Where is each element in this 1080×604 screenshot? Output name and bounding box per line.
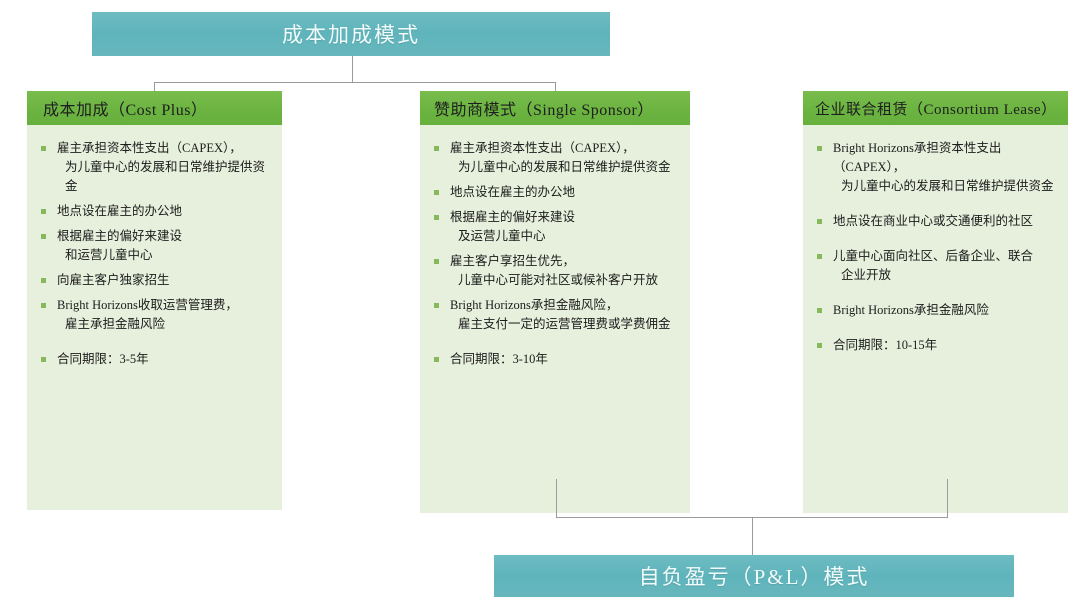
bullet-list: 雇主承担资本性支出（CAPEX）， 为儿童中心的发展和日常维护提供资金 地点设在… — [37, 139, 272, 369]
bullet-line-1: Bright Horizons承担金融风险 — [833, 303, 989, 317]
connector-top-stem — [352, 56, 353, 82]
bullet-line-2: 为儿童中心的发展和日常维护提供资金 — [57, 158, 272, 196]
bullet-line-1: 向雇主客户独家招生 — [57, 273, 170, 287]
bullet-line-2: 雇主承担金融风险 — [57, 315, 272, 334]
bullet-square-icon — [434, 303, 439, 308]
bullet-square-icon — [434, 146, 439, 151]
list-item-contract-term: 合同期限：3-5年 — [37, 350, 272, 369]
bullet-line-1: 根据雇主的偏好来建设 — [57, 229, 182, 243]
list-item: 雇主客户享招生优先， 儿童中心可能对社区或候补客户开放 — [430, 252, 680, 290]
diagram-canvas: 成本加成模式 成本加成（Cost Plus） 雇主承担资本性支出（CAPEX），… — [0, 0, 1080, 604]
bullet-square-icon — [817, 146, 822, 151]
bullet-line-2: 为儿童中心的发展和日常维护提供资金 — [833, 177, 1058, 196]
bullet-square-icon — [41, 303, 46, 308]
bullet-line-2: 儿童中心可能对社区或候补客户开放 — [450, 271, 680, 290]
bullet-square-icon — [41, 357, 46, 362]
bullet-square-icon — [817, 254, 822, 259]
bullet-line-1: Bright Horizons承担金融风险， — [450, 298, 618, 312]
bullet-line-1: 儿童中心面向社区、后备企业、联合 — [833, 249, 1033, 263]
top-banner-label: 成本加成模式 — [282, 19, 420, 49]
card-cost-plus: 成本加成（Cost Plus） 雇主承担资本性支出（CAPEX）， 为儿童中心的… — [27, 91, 282, 510]
card-title: 赞助商模式（Single Sponsor） — [434, 96, 654, 120]
card-header-cost-plus: 成本加成（Cost Plus） — [27, 91, 282, 125]
bullet-line-1: Bright Horizons收取运营管理费， — [57, 298, 238, 312]
list-item: 儿童中心面向社区、后备企业、联合 企业开放 — [813, 247, 1058, 285]
card-body-single-sponsor: 雇主承担资本性支出（CAPEX）， 为儿童中心的发展和日常维护提供资金 地点设在… — [420, 125, 690, 513]
list-item: 地点设在雇主的办公地 — [37, 202, 272, 221]
bullet-line-1: Bright Horizons承担资本性支出（CAPEX）， — [833, 141, 1001, 174]
bullet-line-1: 根据雇主的偏好来建设 — [450, 210, 575, 224]
bullet-list: Bright Horizons承担资本性支出（CAPEX）， 为儿童中心的发展和… — [813, 139, 1058, 355]
connector-top-bar — [154, 82, 556, 83]
bullet-square-icon — [434, 259, 439, 264]
bullet-line-1: 合同期限：3-5年 — [57, 352, 149, 366]
connector-bottom-drop-left — [556, 479, 557, 517]
bullet-square-icon — [817, 343, 822, 348]
bullet-line-2: 企业开放 — [833, 266, 1058, 285]
list-item: 地点设在商业中心或交通便利的社区 — [813, 212, 1058, 231]
bullet-square-icon — [41, 209, 46, 214]
bullet-list: 雇主承担资本性支出（CAPEX）， 为儿童中心的发展和日常维护提供资金 地点设在… — [430, 139, 680, 369]
bullet-line-2: 和运营儿童中心 — [57, 246, 272, 265]
list-item: Bright Horizons承担资本性支出（CAPEX）， 为儿童中心的发展和… — [813, 139, 1058, 196]
bottom-banner-label: 自负盈亏（P&L）模式 — [639, 561, 870, 591]
bullet-line-1: 地点设在雇主的办公地 — [57, 204, 182, 218]
connector-bottom-stem — [752, 517, 753, 555]
list-item: 地点设在雇主的办公地 — [430, 183, 680, 202]
bullet-square-icon — [817, 219, 822, 224]
bullet-line-1: 地点设在雇主的办公地 — [450, 185, 575, 199]
list-item: Bright Horizons收取运营管理费， 雇主承担金融风险 — [37, 296, 272, 334]
bullet-line-2: 雇主支付一定的运营管理费或学费佣金 — [450, 315, 680, 334]
bullet-line-2: 为儿童中心的发展和日常维护提供资金 — [450, 158, 680, 177]
card-title: 企业联合租赁（Consortium Lease） — [815, 98, 1057, 119]
bottom-banner: 自负盈亏（P&L）模式 — [494, 555, 1014, 597]
bullet-line-1: 雇主承担资本性支出（CAPEX）， — [450, 141, 635, 155]
list-item: Bright Horizons承担金融风险， 雇主支付一定的运营管理费或学费佣金 — [430, 296, 680, 334]
bullet-square-icon — [434, 190, 439, 195]
list-item: 雇主承担资本性支出（CAPEX）， 为儿童中心的发展和日常维护提供资金 — [37, 139, 272, 196]
bullet-line-1: 雇主承担资本性支出（CAPEX）， — [57, 141, 242, 155]
bullet-line-1: 雇主客户享招生优先， — [450, 254, 575, 268]
list-item: 雇主承担资本性支出（CAPEX）， 为儿童中心的发展和日常维护提供资金 — [430, 139, 680, 177]
bullet-line-1: 地点设在商业中心或交通便利的社区 — [833, 214, 1033, 228]
list-item: Bright Horizons承担金融风险 — [813, 301, 1058, 320]
list-item-contract-term: 合同期限：3-10年 — [430, 350, 680, 369]
list-item: 根据雇主的偏好来建设 和运营儿童中心 — [37, 227, 272, 265]
bullet-square-icon — [434, 357, 439, 362]
bullet-line-2: 及运营儿童中心 — [450, 227, 680, 246]
card-body-consortium-lease: Bright Horizons承担资本性支出（CAPEX）， 为儿童中心的发展和… — [803, 125, 1068, 513]
card-single-sponsor: 赞助商模式（Single Sponsor） 雇主承担资本性支出（CAPEX）， … — [420, 91, 690, 513]
top-banner: 成本加成模式 — [92, 12, 610, 56]
card-consortium-lease: 企业联合租赁（Consortium Lease） Bright Horizons… — [803, 91, 1068, 513]
bullet-line-1: 合同期限：3-10年 — [450, 352, 548, 366]
bullet-square-icon — [41, 146, 46, 151]
bullet-line-1: 合同期限：10-15年 — [833, 338, 937, 352]
connector-bottom-drop-right — [947, 479, 948, 517]
card-header-single-sponsor: 赞助商模式（Single Sponsor） — [420, 91, 690, 125]
list-item: 根据雇主的偏好来建设 及运营儿童中心 — [430, 208, 680, 246]
card-body-cost-plus: 雇主承担资本性支出（CAPEX）， 为儿童中心的发展和日常维护提供资金 地点设在… — [27, 125, 282, 510]
bullet-square-icon — [434, 215, 439, 220]
list-item-contract-term: 合同期限：10-15年 — [813, 336, 1058, 355]
bullet-square-icon — [41, 278, 46, 283]
bullet-square-icon — [817, 308, 822, 313]
card-title: 成本加成（Cost Plus） — [43, 96, 207, 120]
list-item: 向雇主客户独家招生 — [37, 271, 272, 290]
card-header-consortium-lease: 企业联合租赁（Consortium Lease） — [803, 91, 1068, 125]
bullet-square-icon — [41, 234, 46, 239]
